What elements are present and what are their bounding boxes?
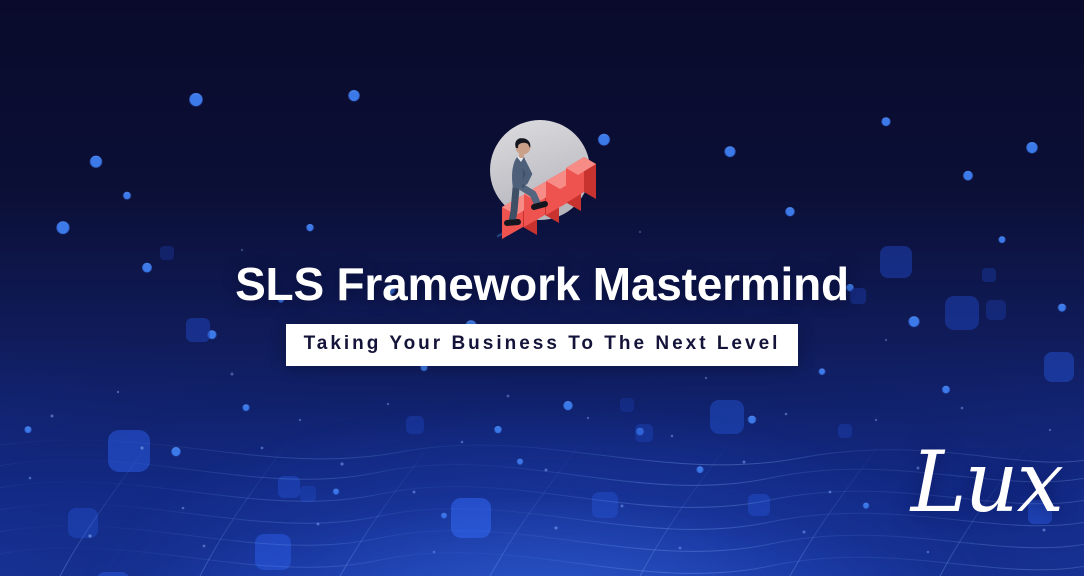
pin-line: [421, 365, 427, 576]
pin-line: [25, 427, 31, 576]
rounded-square: [635, 424, 653, 442]
rounded-square: [406, 416, 424, 434]
businessman-climbing-bar-chart-icon: [480, 112, 604, 246]
page-title: SLS Framework Mastermind: [235, 260, 849, 308]
pin-line: [564, 402, 572, 576]
brand-logo-lux: Lux: [911, 440, 1062, 524]
pin-line: [333, 489, 338, 576]
pin-line: [208, 331, 216, 576]
rounded-square: [710, 400, 744, 434]
pin-line: [863, 503, 868, 576]
subtitle-banner: Taking Your Business To The Next Level: [286, 324, 799, 366]
pin-line: [517, 459, 522, 576]
rounded-square: [838, 424, 852, 438]
rounded-square: [451, 498, 491, 538]
rounded-square: [108, 430, 150, 472]
pin-line: [819, 369, 825, 576]
banner-content: SLS Framework Mastermind Taking Your Bus…: [0, 0, 1084, 366]
rounded-square: [255, 534, 291, 570]
promotional-banner: SLS Framework Mastermind Taking Your Bus…: [0, 0, 1084, 576]
rounded-square: [278, 476, 300, 498]
pin-line: [442, 514, 447, 576]
rounded-square: [300, 486, 316, 502]
rounded-square: [68, 508, 98, 538]
emblem-svg: [480, 112, 604, 246]
pin-line: [665, 349, 671, 576]
rounded-square: [748, 494, 770, 516]
rounded-square: [592, 492, 618, 518]
pin-line: [637, 429, 644, 576]
pin-line: [697, 467, 703, 576]
rounded-square: [96, 572, 130, 576]
pin-line: [495, 427, 501, 576]
subtitle-text: Taking Your Business To The Next Level: [304, 333, 781, 356]
pin-line: [748, 416, 755, 576]
pin-line: [172, 448, 180, 576]
rounded-square: [620, 398, 634, 412]
pin-line: [243, 405, 249, 576]
